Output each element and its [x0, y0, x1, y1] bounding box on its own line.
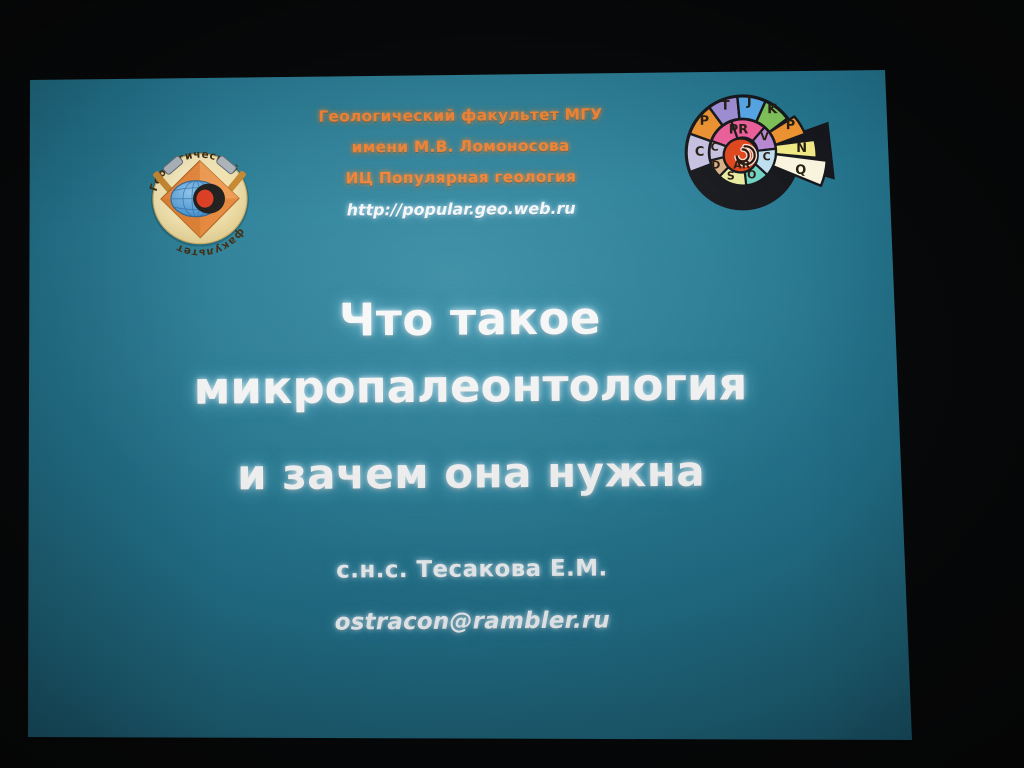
author-email[interactable]: ostracon@rambler.ru: [34, 605, 910, 638]
slide-header-block: Геологический факультет МГУ имени М.В. Л…: [260, 105, 661, 220]
header-line-lomonosov: имени М.В. Ломоносова: [261, 136, 661, 157]
slide-title-block: Что такое микропалеонтология и зачем она…: [32, 293, 910, 498]
strat-inner-label-PR: PR: [729, 122, 749, 137]
title-line-1: Что такое: [32, 293, 908, 345]
header-website-url[interactable]: http://popular.geo.web.ru: [261, 198, 661, 220]
strat-outer-label-P2: P: [786, 118, 796, 133]
strat-core-label-AR: AR: [733, 158, 751, 171]
strat-outer-label-N: N: [796, 141, 807, 156]
slide-content: Геологический факультет: [30, 65, 911, 738]
strat-inner-label-C3: C: [711, 141, 719, 154]
slide-author-block: с.н.с. Тесакова Е.М. ostracon@rambler.ru: [34, 553, 911, 638]
strat-inner-label-C2: C: [763, 150, 771, 163]
header-line-faculty: Геологический факультет МГУ: [260, 105, 660, 126]
title-line-3: и зачем она нужна: [33, 449, 909, 498]
strat-outer-label-P1: P: [700, 114, 710, 129]
strat-outer-label-T: T: [721, 99, 730, 114]
globe-core-icon: [171, 180, 225, 216]
strat-outer-label-Q: Q: [795, 163, 806, 178]
photo-frame: Геологический факультет: [0, 0, 1024, 768]
stratigraphic-ammonite-spiral-icon: C P T J K P N Q PR V C O S D C: [672, 90, 839, 219]
geology-faculty-emblem-icon: Геологический факультет: [139, 140, 262, 257]
title-line-2: микропалеонтология: [32, 360, 908, 412]
strat-inner-label-D: D: [711, 159, 720, 172]
header-line-center: ИЦ Популярная геология: [261, 167, 661, 188]
strat-inner-label-V: V: [760, 130, 769, 143]
author-name: с.н.с. Тесакова Е.М.: [34, 553, 910, 586]
strat-outer-label-J: J: [746, 94, 752, 109]
strat-outer-label-K: K: [767, 102, 778, 117]
strat-outer-label-C1: C: [695, 145, 705, 160]
